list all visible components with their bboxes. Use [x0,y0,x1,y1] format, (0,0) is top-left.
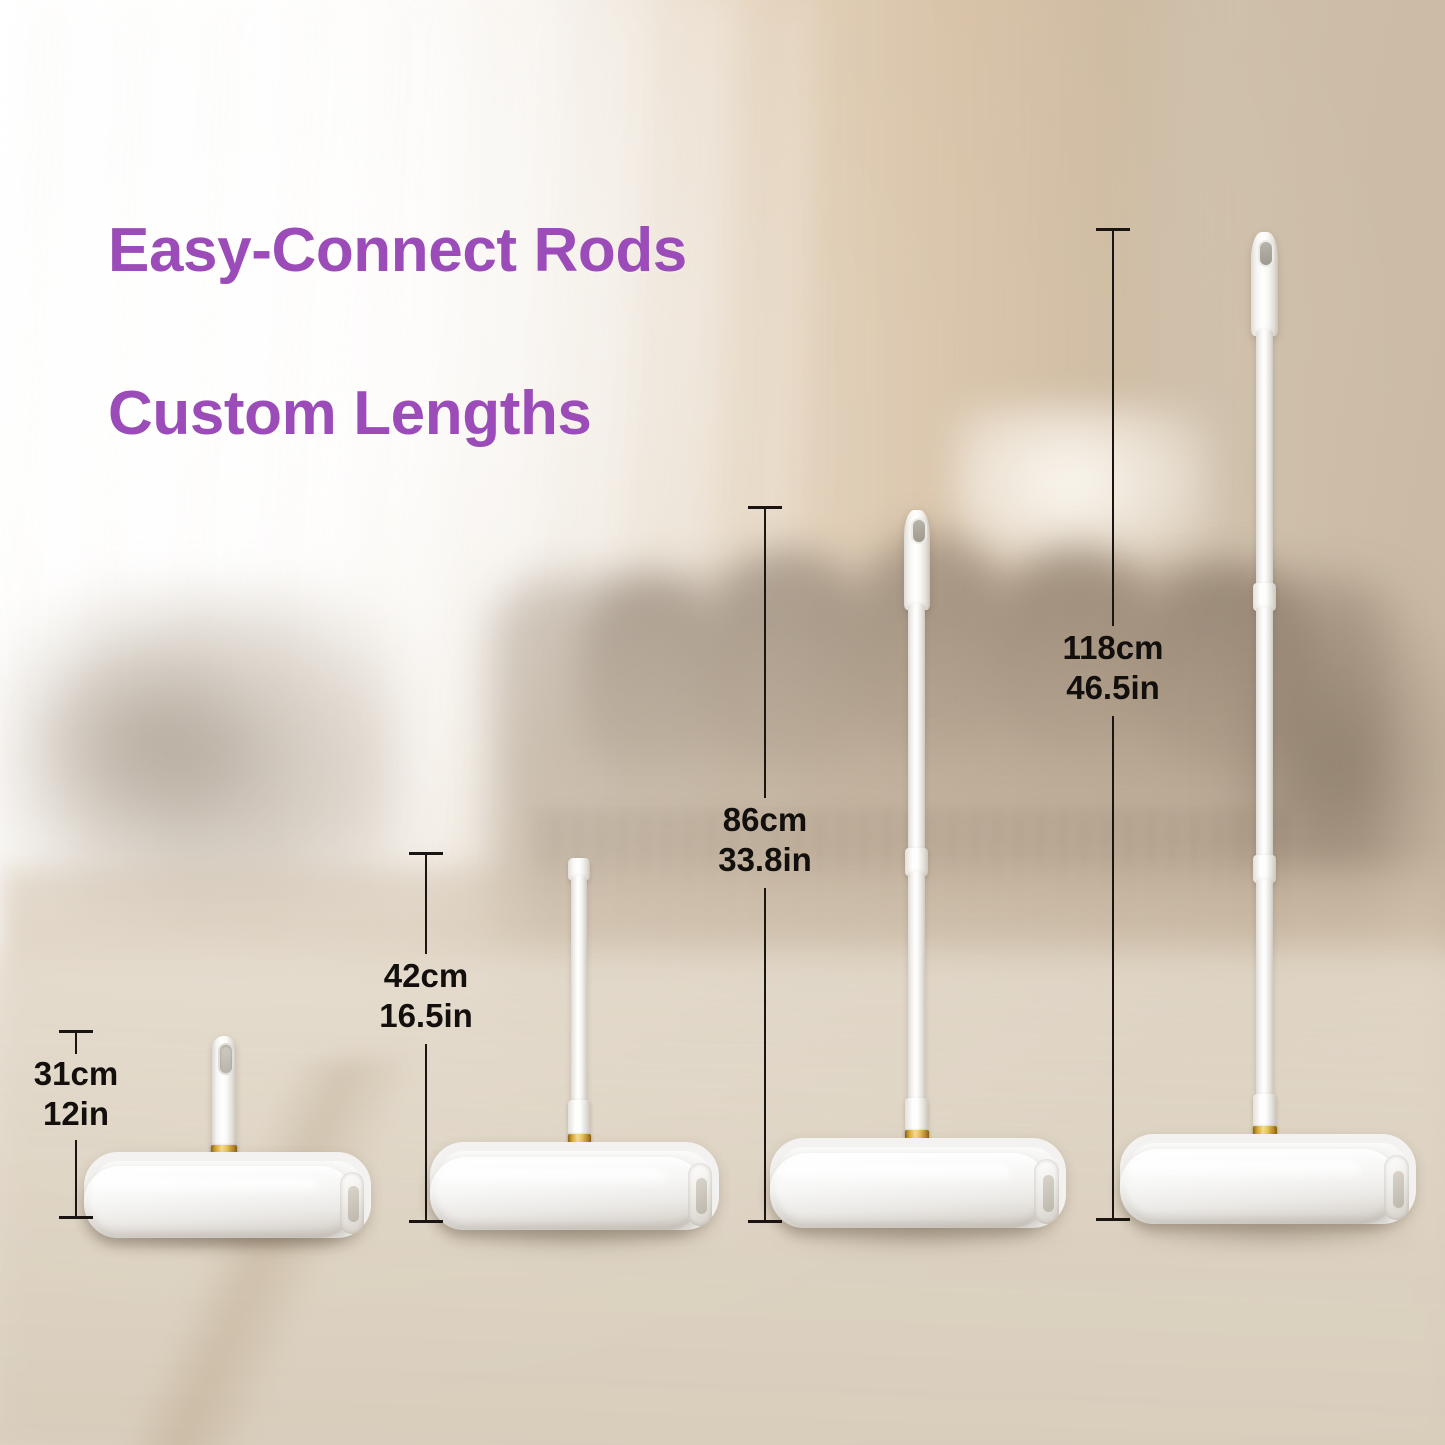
dimension-1-upper-line [75,1032,77,1054]
roller-4-shadow [1122,1220,1422,1250]
dimension-3-lower-line [764,888,766,1220]
roller-2-joint-collar [568,1100,590,1136]
dimension-2-label: 42cm 16.5in [379,956,473,1037]
page-title-line-2: Custom Lengths [108,379,592,448]
dimension-4-upper-line [1112,230,1114,626]
dimension-3-bottom-cap [748,1220,782,1223]
roller-3-base-collar [905,1098,928,1132]
dimension-4-bottom-cap [1096,1218,1130,1221]
roller-2-rod [571,876,587,1126]
roller-1-roll-core [348,1186,359,1222]
page-title: Easy-Connect Rods Custom Lengths [108,128,687,455]
dimension-1-lower-line [75,1140,77,1218]
roller-4-rod-upper [1256,330,1273,592]
dimension-3-label: 86cm 33.8in [718,800,812,881]
dimension-marker-3: 86cm 33.8in [737,506,793,1224]
roller-4-roll-core [1393,1171,1404,1208]
roller-4-lint-roll [1120,1149,1400,1224]
page-title-line-1: Easy-Connect Rods [108,216,687,285]
dimension-4-label: 118cm 46.5in [1063,628,1164,709]
dimension-3-upper-line [764,508,766,798]
roller-4-rod-middle [1256,607,1273,863]
dimension-1-bottom-cap [59,1216,93,1219]
roller-4-hanging-hole-icon [1258,240,1274,267]
dimension-2-upper-line [425,854,427,954]
dimension-marker-1: 31cm 12in [48,1030,104,1220]
roller-2-lint-roll [430,1157,704,1230]
dimension-1-label: 31cm 12in [34,1054,118,1135]
roller-4-base-collar [1253,1094,1276,1128]
roller-4-rod-lower [1256,879,1273,1119]
dimension-marker-4: 118cm 46.5in [1085,228,1141,1222]
dimension-2-lower-line [425,1044,427,1222]
roller-3-rod-upper [908,604,925,856]
roller-2-roll-core [696,1178,707,1214]
roller-3-hanging-hole-icon [911,518,927,544]
roller-3-lint-roll [770,1153,1050,1228]
roller-3-roll-core [1043,1175,1054,1212]
roller-1-hanging-hole-icon [218,1043,234,1075]
dimension-2-bottom-cap [409,1220,443,1223]
dimension-4-lower-line [1112,716,1114,1218]
roller-1-lint-roll [84,1166,356,1238]
product-infographic: Easy-Connect Rods Custom Lengths 31cm 12… [0,0,1445,1445]
dimension-marker-2: 42cm 16.5in [398,852,454,1224]
roller-3-rod-lower [908,872,925,1122]
